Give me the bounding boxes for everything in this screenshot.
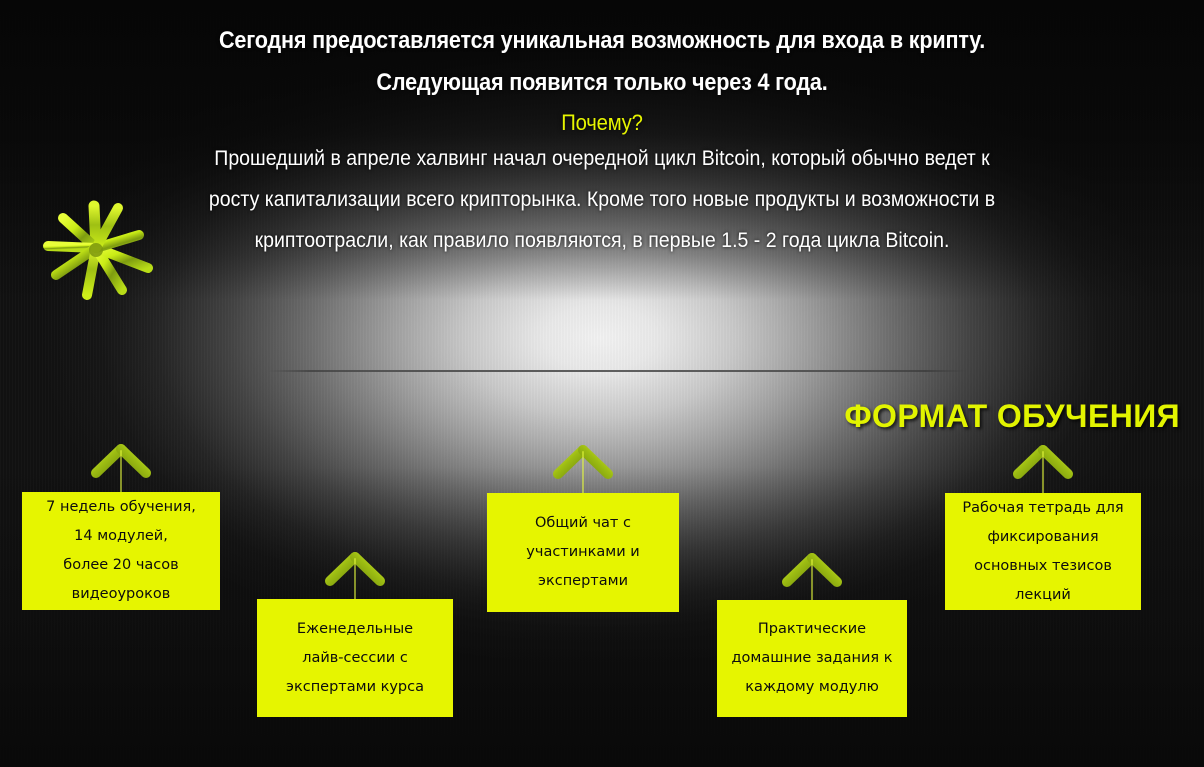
horizontal-divider <box>268 370 968 372</box>
presentation-slide: Сегодня предоставляется уникальная возмо… <box>0 0 1204 767</box>
body-line-2: росту капитализации всего крипторынка. К… <box>135 179 1069 220</box>
body-paragraph: Прошедший в апреле халвинг начал очередн… <box>100 138 1104 261</box>
feature-text-workbook: Рабочая тетрадь для фиксирования основны… <box>962 494 1123 610</box>
headline-line-2: Следующая появится только через 4 года. <box>60 62 1144 104</box>
feature-box-live-sessions[interactable]: Еженедельные лайв-сессии с экспертами ку… <box>257 599 453 717</box>
feature-text-live-sessions: Еженедельные лайв-сессии с экспертами ку… <box>286 615 424 702</box>
feature-text-duration: 7 недель обучения, 14 модулей, более 20 … <box>46 493 196 609</box>
feature-box-duration[interactable]: 7 недель обучения, 14 модулей, более 20 … <box>22 492 220 610</box>
headline-question: Почему? <box>48 104 1156 142</box>
body-line-1: Прошедший в апреле халвинг начал очередн… <box>135 138 1069 179</box>
feature-box-group-chat[interactable]: Общий чат с участинками и экспертами <box>487 493 679 612</box>
section-title: ФОРМАТ ОБУЧЕНИЯ <box>844 398 1180 435</box>
feature-text-group-chat: Общий чат с участинками и экспертами <box>526 509 639 596</box>
headline-block: Сегодня предоставляется уникальная возмо… <box>0 20 1204 142</box>
starburst-asterisk-icon <box>30 188 162 304</box>
feature-text-homework: Практические домашние задания к каждому … <box>732 615 893 702</box>
feature-box-workbook[interactable]: Рабочая тетрадь для фиксирования основны… <box>945 493 1141 610</box>
headline-line-1: Сегодня предоставляется уникальная возмо… <box>60 20 1144 62</box>
body-line-3: криптоотрасли, как правило появляются, в… <box>135 220 1069 261</box>
feature-box-homework[interactable]: Практические домашние задания к каждому … <box>717 600 907 717</box>
